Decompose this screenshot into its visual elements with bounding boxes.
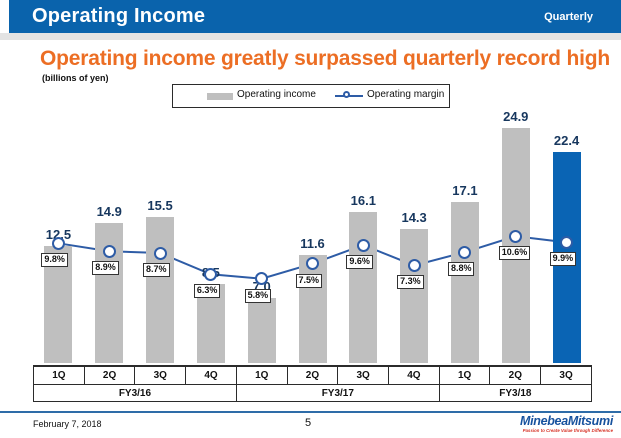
bar-value-label: 14.3 xyxy=(389,210,439,225)
margin-value-label: 8.8% xyxy=(448,262,475,276)
margin-point-marker xyxy=(154,247,167,260)
margin-point-marker xyxy=(103,245,116,258)
footer-divider xyxy=(0,411,621,413)
company-logo: MinebeaMitsumi Passion to Create Value t… xyxy=(503,415,613,434)
bar-4q-7 xyxy=(400,229,428,363)
chart-plot-area: 12.59.8%14.98.9%15.58.7%8.56.3%7.05.8%11… xyxy=(0,0,621,372)
footer-page-number: 5 xyxy=(305,417,311,429)
bar-value-label: 16.1 xyxy=(338,193,388,208)
logo-wordmark: MinebeaMitsumi xyxy=(503,415,613,428)
bar-2q-5 xyxy=(299,255,327,363)
margin-value-label: 8.7% xyxy=(143,263,170,277)
margin-value-label: 7.5% xyxy=(296,274,323,288)
axis-fiscalyear-cell-1: FY3/17 xyxy=(236,385,439,402)
margin-value-label: 9.9% xyxy=(550,252,577,266)
axis-quarter-cell-1: 2Q xyxy=(84,367,135,385)
axis-fiscalyear-cell-2: FY3/18 xyxy=(439,385,591,402)
axis-quarter-cell-9: 2Q xyxy=(490,367,541,385)
axis-quarter-row: 1Q2Q3Q4Q1Q2Q3Q4Q1Q2Q3Q xyxy=(34,367,592,385)
margin-point-marker xyxy=(560,236,573,249)
bar-value-label: 22.4 xyxy=(542,133,592,148)
margin-value-label: 7.3% xyxy=(397,275,424,289)
bar-3q-6 xyxy=(349,212,377,363)
x-axis-table: 1Q2Q3Q4Q1Q2Q3Q4Q1Q2Q3Q FY3/16FY3/17FY3/1… xyxy=(33,366,592,402)
slide-page: Operating Income Quarterly Operating inc… xyxy=(0,0,621,438)
axis-quarter-cell-2: 3Q xyxy=(135,367,186,385)
margin-value-label: 9.6% xyxy=(346,255,373,269)
bar-1q-4 xyxy=(248,298,276,363)
axis-quarter-cell-8: 1Q xyxy=(439,367,490,385)
margin-point-marker xyxy=(408,259,421,272)
margin-value-label: 5.8% xyxy=(245,289,272,303)
axis-fiscalyear-cell-0: FY3/16 xyxy=(34,385,237,402)
bar-value-label: 24.9 xyxy=(491,109,541,124)
margin-value-label: 6.3% xyxy=(194,284,221,298)
footer-date: February 7, 2018 xyxy=(33,419,102,429)
axis-quarter-cell-7: 4Q xyxy=(389,367,440,385)
bar-3q-2 xyxy=(146,217,174,363)
bar-value-label: 14.9 xyxy=(84,204,134,219)
axis-fiscalyear-row: FY3/16FY3/17FY3/18 xyxy=(34,385,592,402)
axis-quarter-cell-0: 1Q xyxy=(34,367,85,385)
axis-quarter-cell-6: 3Q xyxy=(338,367,389,385)
bar-value-label: 17.1 xyxy=(440,183,490,198)
axis-quarter-cell-3: 4Q xyxy=(186,367,237,385)
margin-point-marker xyxy=(509,230,522,243)
margin-value-label: 8.9% xyxy=(92,261,119,275)
bar-1q-8 xyxy=(451,202,479,363)
margin-point-marker xyxy=(357,239,370,252)
margin-value-label: 10.6% xyxy=(499,246,531,260)
logo-tagline: Passion to Create Value through Differen… xyxy=(503,428,613,434)
margin-value-label: 9.8% xyxy=(41,253,68,267)
margin-point-marker xyxy=(52,237,65,250)
axis-quarter-cell-10: 3Q xyxy=(541,367,592,385)
axis-quarter-cell-5: 2Q xyxy=(287,367,338,385)
bar-value-label: 11.6 xyxy=(288,236,338,251)
axis-quarter-cell-4: 1Q xyxy=(236,367,287,385)
bar-value-label: 15.5 xyxy=(135,198,185,213)
